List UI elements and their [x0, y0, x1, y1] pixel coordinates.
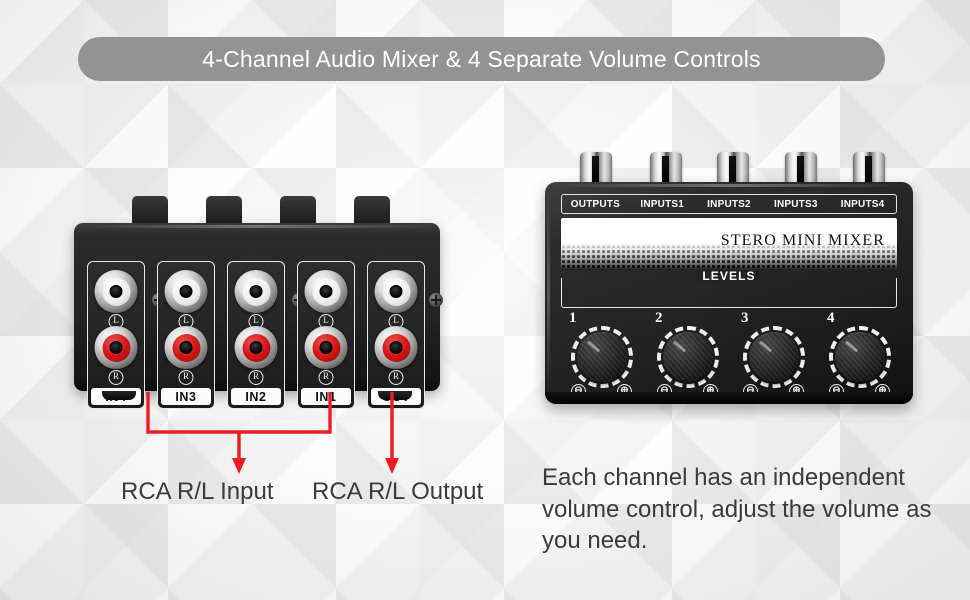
rca-jack-right-in1[interactable] [305, 326, 348, 369]
right-device-body: OUTPUTS INPUTS1 INPUTS2 INPUTS3 INPUTS4 … [545, 182, 913, 404]
io-label-inputs3: INPUTS3 [762, 199, 829, 210]
knob-number-3: 3 [741, 310, 749, 327]
rubber-foot-right [378, 391, 412, 400]
volume-knob-2[interactable] [663, 332, 713, 382]
port-panel-out: L R OUT [367, 261, 425, 409]
caption-rca-output: RCA R/L Output [312, 478, 483, 506]
port-label-in1: IN1 [301, 388, 351, 405]
levels-label: LEVELS [695, 269, 762, 283]
rca-barrel-inputs1 [650, 152, 682, 186]
right-body-left-highlight [547, 192, 550, 394]
volume-knob-unit-1: 1 ⊖ ⊕ [567, 312, 639, 398]
rubber-foot-left [102, 391, 136, 400]
volume-knob-1[interactable] [577, 332, 627, 382]
right-body-bottom-edge [545, 392, 913, 404]
volume-knob-3[interactable] [749, 332, 799, 382]
halftone-gradient [561, 244, 897, 270]
rca-jack-right-in4[interactable] [95, 326, 138, 369]
right-description-text: Each channel has an independent volume c… [542, 462, 952, 557]
rca-barrel-inputs2 [717, 152, 749, 186]
channel-marker-r-out: R [389, 370, 404, 385]
io-label-row: OUTPUTS INPUTS1 INPUTS2 INPUTS3 INPUTS4 [561, 194, 897, 214]
rca-barrel-inputs4 [853, 152, 885, 186]
rear-knob-2 [206, 196, 242, 226]
channel-marker-r-in3: R [179, 370, 194, 385]
port-label-in2: IN2 [231, 388, 281, 405]
knob-number-2: 2 [655, 310, 663, 327]
channel-marker-r-in4: R [109, 370, 124, 385]
knob-number-1: 1 [569, 310, 577, 327]
banner-title: 4-Channel Audio Mixer & 4 Separate Volum… [202, 46, 760, 73]
rear-knob-3 [280, 196, 316, 226]
port-panel-in2: L R IN2 [227, 261, 285, 409]
rca-jack-left-in4[interactable] [95, 270, 138, 313]
levels-section: LEVELS [561, 278, 897, 308]
port-panel-in1: L R IN1 [297, 261, 355, 409]
volume-knob-unit-3: 3 ⊖ ⊕ [739, 312, 811, 398]
volume-knob-unit-2: 2 ⊖ ⊕ [653, 312, 725, 398]
rca-barrel-inputs3 [785, 152, 817, 186]
channel-marker-r-in2: R [249, 370, 264, 385]
body-top-highlight [82, 225, 432, 228]
io-label-outputs: OUTPUTS [562, 199, 629, 210]
rca-barrel-outputs [580, 152, 612, 186]
rear-knob-4 [354, 196, 390, 226]
volume-knob-4[interactable] [835, 332, 885, 382]
rca-jack-left-in3[interactable] [165, 270, 208, 313]
rca-jack-right-in3[interactable] [165, 326, 208, 369]
io-label-inputs2: INPUTS2 [696, 199, 763, 210]
io-label-inputs4: INPUTS4 [829, 199, 896, 210]
port-label-in3: IN3 [161, 388, 211, 405]
title-banner: 4-Channel Audio Mixer & 4 Separate Volum… [78, 37, 885, 81]
right-device-top-panel: OUTPUTS INPUTS1 INPUTS2 INPUTS3 INPUTS4 … [545, 152, 913, 414]
brand-plate: STERO MINI MIXER [561, 218, 897, 270]
device-body: L R IN4 L R IN3 L R IN2 L R [74, 223, 440, 391]
rca-jack-right-in2[interactable] [235, 326, 278, 369]
left-device-front-panel: L R IN4 L R IN3 L R IN2 L R [74, 196, 440, 421]
rca-jack-right-out[interactable] [375, 326, 418, 369]
knob-number-4: 4 [827, 310, 835, 327]
right-body-top-highlight [555, 184, 903, 187]
port-panel-in3: L R IN3 [157, 261, 215, 409]
rear-knob-1 [132, 196, 168, 226]
port-panel-in4: L R IN4 [87, 261, 145, 409]
rca-jack-left-in1[interactable] [305, 270, 348, 313]
caption-rca-input: RCA R/L Input [121, 478, 274, 506]
io-label-inputs1: INPUTS1 [629, 199, 696, 210]
channel-marker-r-in1: R [319, 370, 334, 385]
rca-jack-left-in2[interactable] [235, 270, 278, 313]
screw-icon-3 [429, 293, 443, 307]
volume-knob-unit-4: 4 ⊖ ⊕ [825, 312, 897, 398]
rca-jack-left-out[interactable] [375, 270, 418, 313]
